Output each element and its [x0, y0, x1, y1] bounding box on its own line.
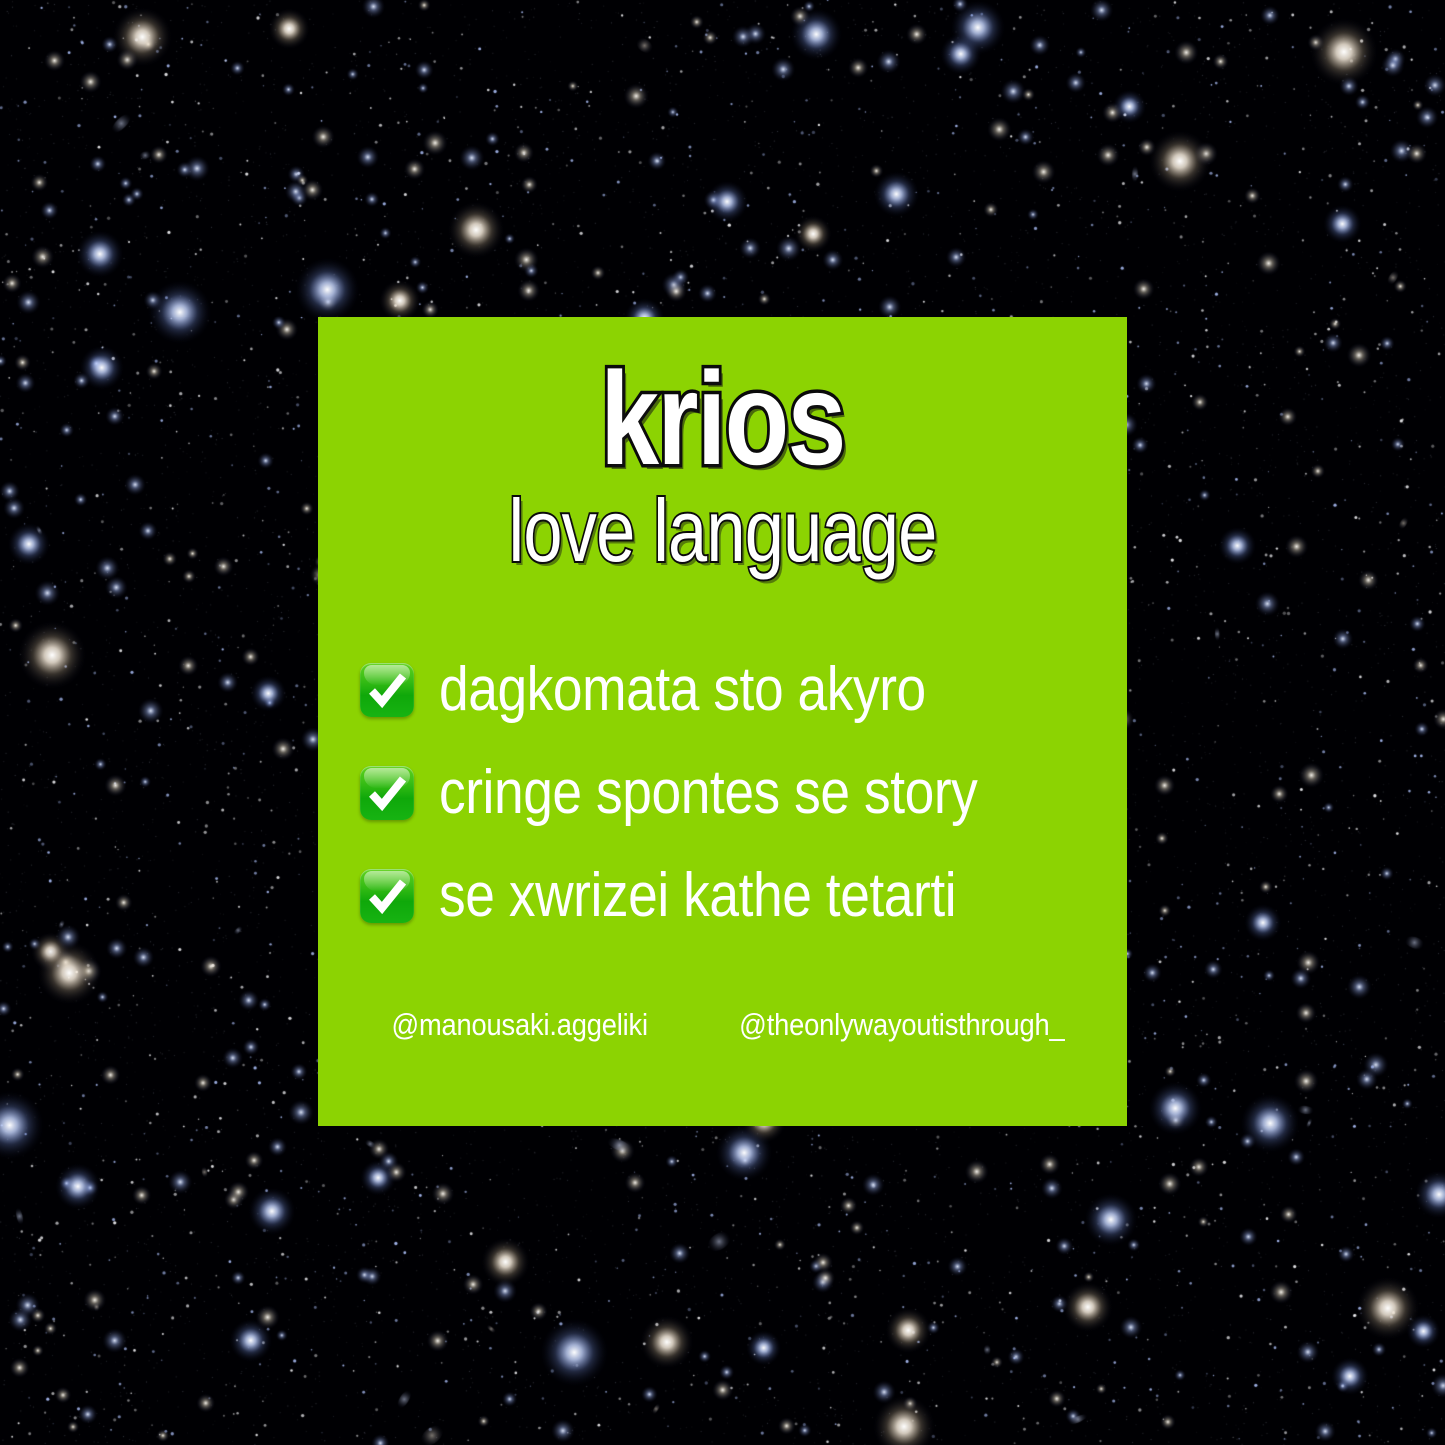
list-item-label: dagkomata sto akyro: [439, 659, 926, 721]
handle-secondary: @theonlywayoutisthrough_: [740, 1007, 1065, 1043]
list-item-label: cringe spontes se story: [439, 762, 977, 824]
check-mark-button-icon: [360, 766, 414, 820]
green-content-card: krios love language dagkomata sto akyro: [318, 317, 1127, 1126]
list-item: se xwrizei kathe tetarti: [360, 861, 1107, 931]
handle-primary: @manousaki.aggeliki: [391, 1007, 647, 1043]
post-canvas: krios love language dagkomata sto akyro: [0, 0, 1445, 1445]
checklist: dagkomata sto akyro cringe spontes se st…: [360, 655, 1107, 931]
check-mark-button-icon: [360, 869, 414, 923]
credits-row: @manousaki.aggeliki @theonlywayoutisthro…: [374, 1007, 1087, 1043]
check-mark-button-icon: [360, 663, 414, 717]
title-block: krios love language: [318, 353, 1127, 575]
page-subtitle: love language: [399, 487, 1046, 575]
list-item: dagkomata sto akyro: [360, 655, 1107, 725]
list-item-label: se xwrizei kathe tetarti: [439, 865, 956, 927]
page-title: krios: [399, 353, 1046, 485]
list-item: cringe spontes se story: [360, 758, 1107, 828]
